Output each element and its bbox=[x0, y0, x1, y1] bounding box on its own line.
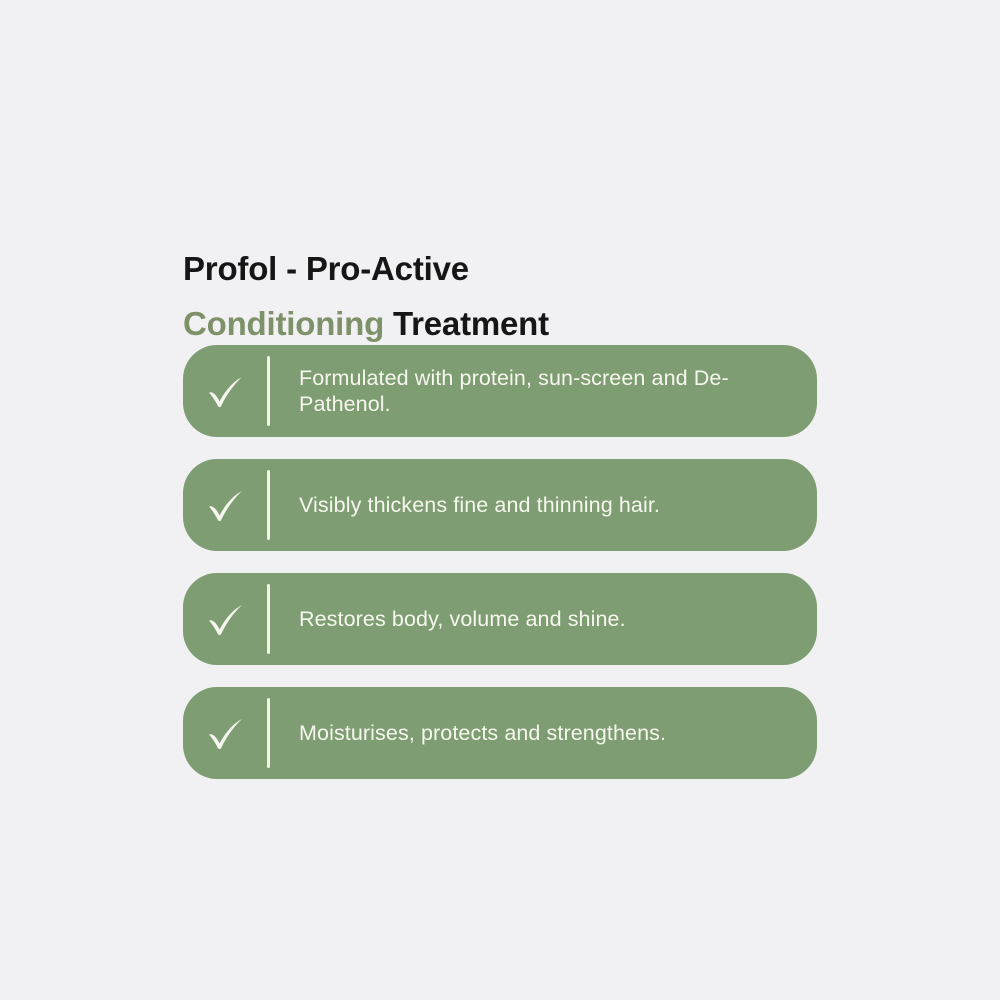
list-item: Formulated with protein, sun-screen and … bbox=[183, 345, 817, 437]
check-icon bbox=[183, 369, 267, 413]
list-item: Visibly thickens fine and thinning hair. bbox=[183, 459, 817, 551]
list-item-label: Moisturises, protects and strengthens. bbox=[270, 720, 799, 746]
check-icon bbox=[183, 711, 267, 755]
page-title-accent: Conditioning bbox=[183, 305, 384, 342]
product-benefits-card: Profol - Pro-Active Conditioning Treatme… bbox=[0, 0, 1000, 1000]
list-item: Moisturises, protects and strengthens. bbox=[183, 687, 817, 779]
check-icon bbox=[183, 597, 267, 641]
feature-list: Formulated with protein, sun-screen and … bbox=[183, 345, 817, 779]
list-item-label: Visibly thickens fine and thinning hair. bbox=[270, 492, 799, 518]
list-item: Restores body, volume and shine. bbox=[183, 573, 817, 665]
page-title: Profol - Pro-Active Conditioning Treatme… bbox=[183, 241, 883, 351]
check-icon bbox=[183, 483, 267, 527]
page-title-line-2: Conditioning Treatment bbox=[183, 296, 883, 351]
list-item-label: Restores body, volume and shine. bbox=[270, 606, 799, 632]
page-title-line-2-rest: Treatment bbox=[384, 305, 549, 342]
page-title-line-1: Profol - Pro-Active bbox=[183, 241, 883, 296]
list-item-label: Formulated with protein, sun-screen and … bbox=[270, 365, 799, 417]
